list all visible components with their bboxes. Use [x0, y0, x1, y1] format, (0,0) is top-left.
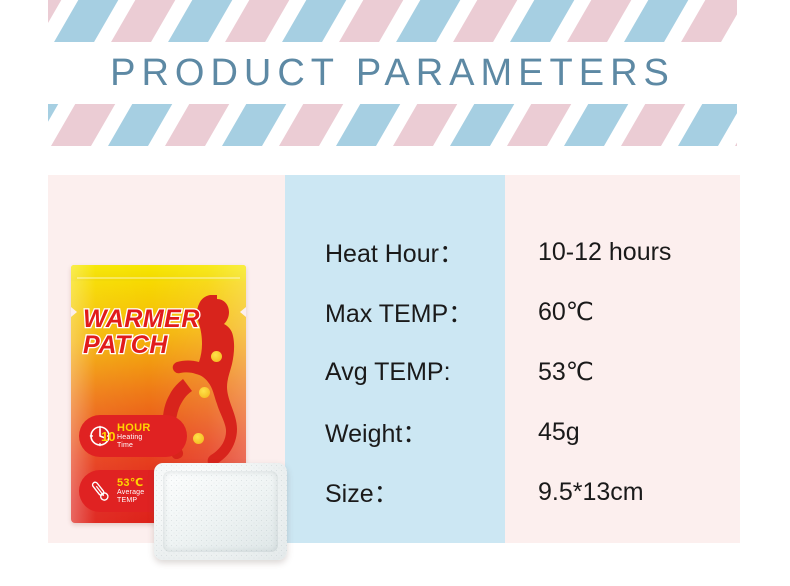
spec-row: Max TEMP：60℃ [285, 282, 740, 342]
tear-notch-left [71, 307, 77, 317]
tear-notch-right [240, 307, 246, 317]
spec-row-value: 9.5*13cm [505, 478, 644, 507]
spec-rows: Heat Hour：10-12 hoursMax TEMP：60℃Avg TEM… [285, 222, 740, 522]
spec-row-value: 10-12 hours [505, 238, 671, 267]
spec-row-value: 45g [505, 418, 580, 447]
spec-row-label: Heat Hour： [285, 234, 505, 270]
badge-heating-time: 10 HOUR Heating Time [79, 415, 187, 457]
badge-time-label: Time [117, 442, 151, 449]
pouch-top-seal [71, 265, 246, 281]
thermometer-icon [85, 478, 115, 504]
heat-patch-product [154, 463, 287, 560]
spec-row: Heat Hour：10-12 hours [285, 222, 740, 282]
spec-row: Avg TEMP:53℃ [285, 342, 740, 402]
spec-row-label: Size： [285, 474, 505, 510]
brand-line-2: PATCH [83, 333, 200, 359]
header-banner: PRODUCT PARAMETERS [48, 0, 737, 146]
spec-row-label: Avg TEMP: [285, 358, 505, 387]
spec-row-label: Max TEMP： [285, 294, 505, 330]
badge-hour-label: HOUR [117, 423, 151, 435]
badge-temp-value: 53℃ [117, 478, 144, 490]
heat-point-waist [199, 387, 210, 398]
parameters-panel: WARMER PATCH 10 [48, 175, 740, 543]
patch-texture [154, 463, 287, 560]
brand-line-1: WARMER [83, 307, 200, 333]
badge-heating-label: Heating [117, 434, 151, 441]
spec-row: Weight：45g [285, 402, 740, 462]
page-title: PRODUCT PARAMETERS [48, 42, 737, 104]
badge-hours-number: 10 [101, 429, 115, 444]
badge-heating-time-text: HOUR Heating Time [117, 423, 151, 449]
product-image: WARMER PATCH 10 [66, 207, 291, 527]
badge-average-temp-text: 53℃ Average TEMP [117, 478, 144, 504]
badge-temp-label: TEMP [117, 497, 144, 504]
specification-table: Heat Hour：10-12 hoursMax TEMP：60℃Avg TEM… [285, 175, 740, 543]
spec-row-value: 53℃ [505, 357, 594, 387]
product-brand: WARMER PATCH [83, 307, 200, 358]
heat-point-knee [193, 433, 204, 444]
spec-row-label: Weight： [285, 414, 505, 450]
spec-row: Size：9.5*13cm [285, 462, 740, 522]
heat-point-shoulder [211, 351, 222, 362]
badge-average-label: Average [117, 489, 144, 496]
spec-row-value: 60℃ [505, 297, 594, 327]
